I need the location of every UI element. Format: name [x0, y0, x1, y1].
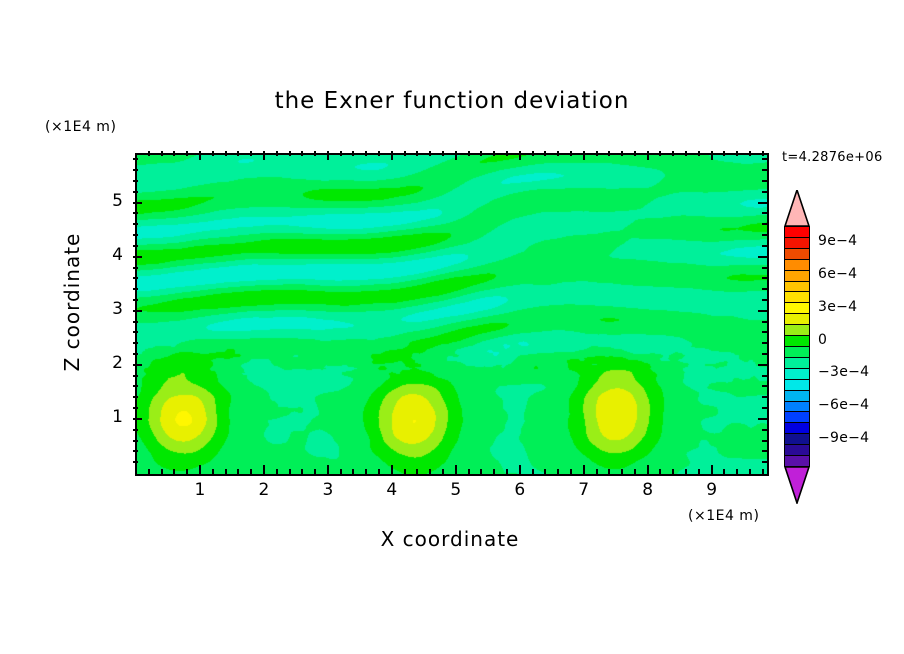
x-tick	[698, 151, 700, 156]
z-tick	[762, 396, 767, 398]
colorbar-tick-label: 0	[818, 332, 827, 348]
x-tick-label: 6	[505, 480, 535, 500]
z-tick	[133, 440, 138, 442]
z-tick	[133, 321, 138, 323]
x-tick-label: 3	[313, 480, 343, 500]
x-tick	[416, 469, 418, 474]
x-tick	[647, 151, 649, 160]
z-tick	[758, 418, 767, 420]
z-tick	[762, 212, 767, 214]
x-tick	[544, 469, 546, 474]
x-tick	[276, 469, 278, 474]
z-tick	[133, 212, 138, 214]
y-tick-label: 2	[93, 353, 123, 373]
colorbar-tick-label: −9e−4	[818, 430, 869, 446]
z-tick	[762, 223, 767, 225]
x-tick	[327, 151, 329, 160]
x-tick	[608, 151, 610, 156]
y-unit-label: (×1E4 m)	[45, 119, 116, 135]
x-tick	[352, 151, 354, 156]
x-tick	[557, 151, 559, 156]
x-tick	[596, 151, 598, 156]
y-tick-label: 5	[93, 191, 123, 211]
z-tick	[762, 191, 767, 193]
x-tick	[621, 469, 623, 474]
z-tick	[133, 277, 138, 279]
x-tick	[148, 469, 150, 474]
x-tick	[532, 469, 534, 474]
x-tick	[723, 469, 725, 474]
x-tick	[493, 469, 495, 474]
z-tick	[762, 440, 767, 442]
z-tick	[762, 299, 767, 301]
z-tick	[762, 375, 767, 377]
x-tick	[301, 469, 303, 474]
z-tick	[133, 461, 138, 463]
x-tick	[480, 151, 482, 156]
x-tick	[212, 469, 214, 474]
colorbar	[784, 226, 810, 466]
z-tick	[762, 450, 767, 452]
x-tick	[237, 469, 239, 474]
z-tick	[762, 245, 767, 247]
x-tick	[749, 469, 751, 474]
x-tick	[634, 151, 636, 156]
x-tick	[173, 151, 175, 156]
colorbar-tick-label: 6e−4	[818, 266, 857, 282]
x-tick	[608, 469, 610, 474]
x-axis-title: X coordinate	[135, 527, 765, 551]
z-tick	[133, 450, 138, 452]
colorbar-tick-label: 3e−4	[818, 299, 857, 315]
x-tick	[250, 151, 252, 156]
z-tick	[762, 158, 767, 160]
x-tick-label: 2	[249, 480, 279, 500]
x-tick	[173, 469, 175, 474]
z-tick	[762, 429, 767, 431]
x-tick	[404, 151, 406, 156]
x-tick	[685, 151, 687, 156]
x-tick	[276, 151, 278, 156]
x-tick	[391, 465, 393, 474]
x-tick	[672, 151, 674, 156]
z-tick	[762, 353, 767, 355]
x-tick	[161, 469, 163, 474]
x-tick	[583, 465, 585, 474]
x-tick	[506, 469, 508, 474]
x-tick	[250, 469, 252, 474]
z-tick	[133, 158, 138, 160]
z-tick	[133, 310, 142, 312]
x-tick	[429, 469, 431, 474]
z-tick	[762, 407, 767, 409]
x-tick	[199, 151, 201, 160]
x-tick-label: 9	[697, 480, 727, 500]
x-tick	[263, 151, 265, 160]
z-tick	[762, 277, 767, 279]
z-tick	[133, 429, 138, 431]
z-tick	[133, 418, 142, 420]
x-tick	[634, 469, 636, 474]
x-tick	[659, 469, 661, 474]
x-tick	[340, 469, 342, 474]
z-tick	[762, 288, 767, 290]
x-tick	[161, 151, 163, 156]
x-tick	[736, 151, 738, 156]
page-title: the Exner function deviation	[0, 88, 904, 114]
colorbar-tick-label: 9e−4	[818, 233, 857, 249]
z-tick	[133, 331, 138, 333]
z-tick	[133, 267, 138, 269]
x-tick	[442, 469, 444, 474]
x-tick	[429, 151, 431, 156]
x-tick	[455, 151, 457, 160]
x-tick	[186, 151, 188, 156]
x-tick	[672, 469, 674, 474]
colorbar-over-cap	[784, 190, 810, 226]
x-tick	[493, 151, 495, 156]
z-tick	[133, 180, 138, 182]
x-tick	[480, 469, 482, 474]
z-tick	[758, 310, 767, 312]
x-tick	[762, 469, 764, 474]
x-unit-label: (×1E4 m)	[688, 508, 759, 524]
x-tick	[583, 151, 585, 160]
x-tick	[532, 151, 534, 156]
y-axis-title: Z coordinate	[60, 212, 84, 392]
z-tick	[133, 364, 142, 366]
x-tick	[378, 151, 380, 156]
y-tick-label: 4	[93, 245, 123, 265]
y-tick-label: 1	[93, 407, 123, 427]
x-tick	[544, 151, 546, 156]
x-tick	[289, 469, 291, 474]
y-tick-label: 3	[93, 299, 123, 319]
x-tick	[301, 151, 303, 156]
x-tick	[225, 151, 227, 156]
x-tick	[442, 151, 444, 156]
x-tick	[596, 469, 598, 474]
x-tick-label: 4	[377, 480, 407, 500]
colorbar-tick-label: −6e−4	[818, 397, 869, 413]
x-tick	[416, 151, 418, 156]
x-tick	[212, 151, 214, 156]
x-tick	[621, 151, 623, 156]
x-tick	[404, 469, 406, 474]
z-tick	[762, 180, 767, 182]
z-tick	[133, 245, 138, 247]
z-tick	[133, 256, 142, 258]
x-tick	[225, 469, 227, 474]
x-tick	[698, 469, 700, 474]
x-tick	[749, 151, 751, 156]
x-tick	[455, 465, 457, 474]
z-tick	[133, 407, 138, 409]
z-tick	[758, 364, 767, 366]
x-tick	[327, 465, 329, 474]
z-tick	[133, 223, 138, 225]
z-tick	[133, 375, 138, 377]
x-tick	[711, 151, 713, 160]
z-tick	[758, 256, 767, 258]
x-tick	[570, 151, 572, 156]
chart-root: the Exner function deviation (×1E4 m) (×…	[0, 0, 904, 654]
x-tick-label: 5	[441, 480, 471, 500]
z-tick	[133, 299, 138, 301]
x-tick	[685, 469, 687, 474]
x-tick	[723, 151, 725, 156]
x-tick-label: 1	[185, 480, 215, 500]
x-tick	[659, 151, 661, 156]
x-tick	[391, 151, 393, 160]
x-tick	[314, 469, 316, 474]
x-tick-label: 7	[569, 480, 599, 500]
x-tick	[289, 151, 291, 156]
x-tick	[468, 151, 470, 156]
contour-field	[137, 155, 767, 474]
x-tick	[736, 469, 738, 474]
x-tick	[352, 469, 354, 474]
x-tick	[762, 151, 764, 156]
x-tick	[468, 469, 470, 474]
z-tick	[133, 353, 138, 355]
x-tick	[378, 469, 380, 474]
x-tick	[199, 465, 201, 474]
z-tick	[762, 169, 767, 171]
x-tick	[647, 465, 649, 474]
z-tick	[133, 288, 138, 290]
contour-plot	[135, 153, 769, 476]
z-tick	[762, 321, 767, 323]
colorbar-under-cap	[784, 466, 810, 502]
z-tick	[762, 234, 767, 236]
z-tick	[762, 342, 767, 344]
x-tick-label: 8	[633, 480, 663, 500]
z-tick	[133, 396, 138, 398]
z-tick	[133, 342, 138, 344]
colorbar-tick-label: −3e−4	[818, 364, 869, 380]
x-tick	[237, 151, 239, 156]
x-tick	[519, 465, 521, 474]
z-tick	[133, 169, 138, 171]
x-tick	[365, 469, 367, 474]
x-tick	[365, 151, 367, 156]
z-tick	[762, 461, 767, 463]
x-tick	[506, 151, 508, 156]
z-tick	[762, 267, 767, 269]
x-tick	[711, 465, 713, 474]
x-tick	[263, 465, 265, 474]
x-tick	[314, 151, 316, 156]
z-tick	[762, 385, 767, 387]
z-tick	[758, 202, 767, 204]
x-tick	[186, 469, 188, 474]
z-tick	[133, 234, 138, 236]
x-tick	[570, 469, 572, 474]
x-tick	[148, 151, 150, 156]
x-tick	[340, 151, 342, 156]
z-tick	[762, 331, 767, 333]
x-tick	[557, 469, 559, 474]
z-tick	[133, 385, 138, 387]
time-annotation: t=4.2876e+06	[782, 150, 883, 165]
z-tick	[133, 191, 138, 193]
z-tick	[133, 202, 142, 204]
x-tick	[519, 151, 521, 160]
